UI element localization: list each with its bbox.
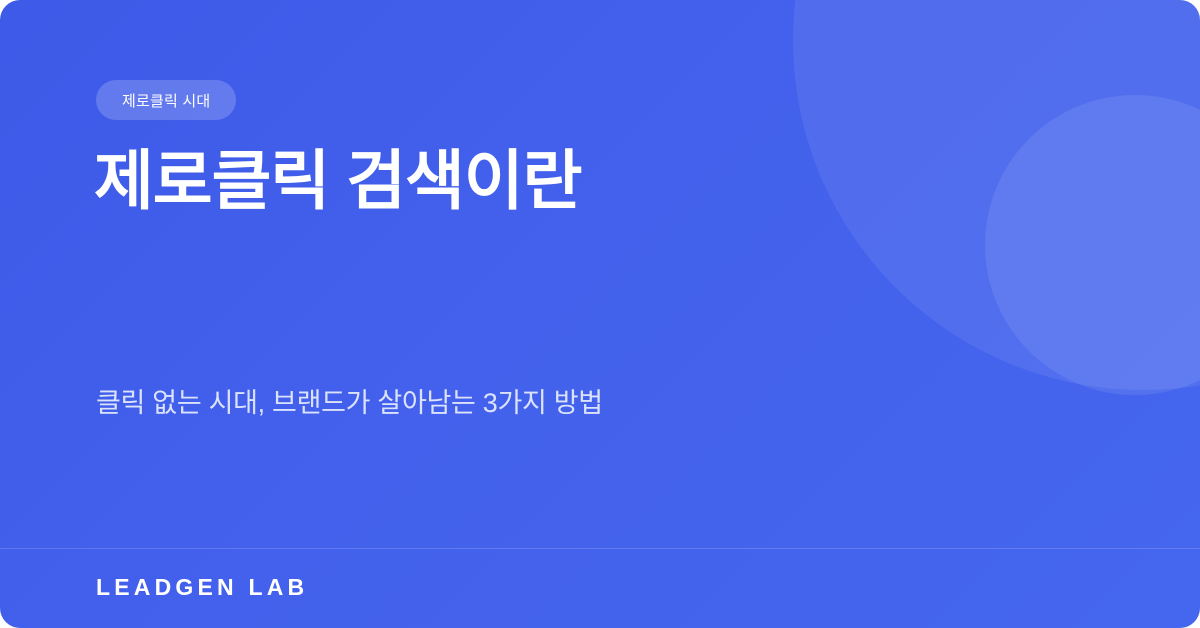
category-badge-label: 제로클릭 시대 [122,90,210,111]
social-card: 제로클릭 시대 제로클릭 검색이란 클릭 없는 시대, 브랜드가 살아남는 3가… [0,0,1200,628]
card-content: 제로클릭 시대 제로클릭 검색이란 클릭 없는 시대, 브랜드가 살아남는 3가… [0,0,1200,628]
brand-wordmark: LEADGEN LAB [96,574,308,601]
footer-divider [0,548,1200,549]
page-title: 제로클릭 검색이란 [94,143,581,220]
page-subtitle: 클릭 없는 시대, 브랜드가 살아남는 3가지 방법 [96,385,603,421]
category-badge: 제로클릭 시대 [96,80,236,120]
